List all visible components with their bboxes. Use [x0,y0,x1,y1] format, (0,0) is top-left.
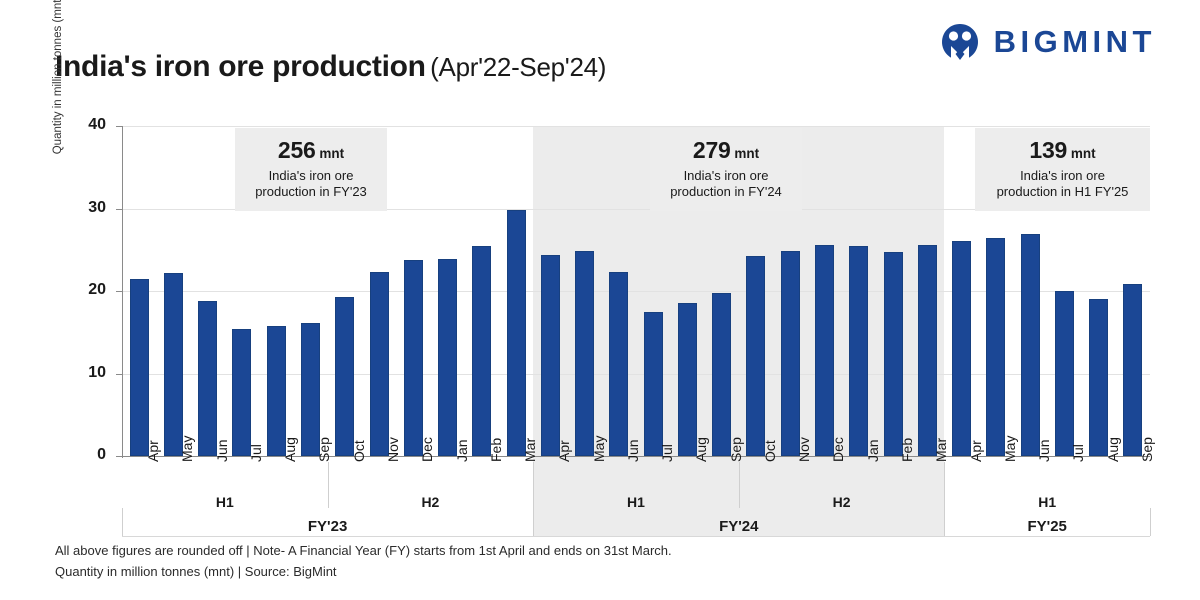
bar-dec-8[interactable] [404,260,423,456]
callout-unit: mnt [1067,146,1096,161]
y-axis-label: 40 [60,116,106,134]
x-axis-label-2: Jun [214,439,230,462]
callout-description: India's iron ore [235,168,387,184]
bar-jun-26[interactable] [1021,234,1040,456]
bar-oct-6[interactable] [335,297,354,456]
bar-oct-18[interactable] [746,256,765,456]
footer-line-1: All above figures are rounded off | Note… [55,540,672,561]
half-label-0: H1 [122,494,328,510]
x-axis-label-23: Mar [933,438,949,462]
fiscal-year-label-FY23: FY'23 [122,518,533,535]
label-row-divider [122,536,1150,537]
x-axis-label-25: May [1002,436,1018,462]
y-axis-label: 20 [60,281,106,299]
x-axis-label-24: Apr [968,440,984,462]
x-axis-label-10: Feb [488,438,504,462]
half-separator [739,462,740,508]
callout-FY23: 256 mntIndia's iron oreproduction in FY'… [235,128,387,211]
x-axis-label-29: Sep [1139,437,1155,462]
bar-nov-19[interactable] [781,251,800,456]
y-axis-label: 10 [60,364,106,382]
callout-value: 256 [278,137,316,163]
bar-dec-20[interactable] [815,245,834,456]
x-axis-label-1: May [179,436,195,462]
x-axis-label-14: Jun [625,439,641,462]
bar-sep-29[interactable] [1123,284,1142,456]
x-axis-label-7: Nov [385,437,401,462]
bar-sep-17[interactable] [712,293,731,456]
fiscal-year-label-FY24: FY'24 [533,518,944,535]
x-axis-label-20: Dec [830,437,846,462]
bar-jul-15[interactable] [644,312,663,456]
x-axis-label-9: Jan [454,439,470,462]
half-label-2: H1 [533,494,739,510]
x-axis-label-22: Feb [899,438,915,462]
bar-jul-27[interactable] [1055,291,1074,456]
fiscal-year-label-FY25: FY'25 [944,518,1150,535]
x-axis-label-8: Dec [419,437,435,462]
bar-aug-28[interactable] [1089,299,1108,456]
callout-unit: mnt [316,146,345,161]
x-axis-label-18: Oct [762,440,778,462]
y-axis-title: Quantity in million tonnes (mnt) [52,0,64,185]
half-separator [944,462,945,508]
bar-may-25[interactable] [986,238,1005,456]
fy-separator [533,508,534,536]
x-axis-label-15: Jul [659,444,675,462]
x-axis-label-16: Aug [693,437,709,462]
bar-mar-11[interactable] [507,210,526,456]
y-axis-line [122,126,123,458]
callout-unit: mnt [731,146,760,161]
bar-may-1[interactable] [164,273,183,456]
chart-container: Quantity in million tonnes (mnt) 0102030… [0,0,1200,600]
y-axis-label: 30 [60,199,106,217]
callout-description: production in H1 FY'25 [975,184,1150,200]
x-axis-label-0: Apr [145,440,161,462]
bar-feb-10[interactable] [472,246,491,456]
x-axis-label-19: Nov [796,437,812,462]
callout-description: production in FY'23 [235,184,387,200]
bar-mar-23[interactable] [918,245,937,456]
bar-aug-16[interactable] [678,303,697,456]
bar-jul-3[interactable] [232,329,251,456]
callout-value: 279 [693,137,731,163]
x-axis-label-21: Jan [865,439,881,462]
y-axis-label: 0 [60,446,106,464]
x-axis-label-4: Aug [282,437,298,462]
callout-description: India's iron ore [975,168,1150,184]
footer-note: All above figures are rounded off | Note… [55,540,672,582]
callout-FY24: 279 mntIndia's iron oreproduction in FY'… [650,128,802,211]
bar-feb-22[interactable] [884,252,903,456]
half-label-3: H2 [739,494,945,510]
bar-apr-12[interactable] [541,255,560,456]
fy-separator [944,508,945,536]
half-separator [328,462,329,508]
bar-apr-24[interactable] [952,241,971,456]
x-axis-label-5: Sep [316,437,332,462]
gridline [122,126,1150,127]
callout-FY25: 139 mntIndia's iron oreproduction in H1 … [975,128,1150,211]
bar-jun-14[interactable] [609,272,628,456]
bar-jan-9[interactable] [438,259,457,456]
x-axis-label-13: May [591,436,607,462]
half-label-1: H2 [328,494,534,510]
callout-description: production in FY'24 [650,184,802,200]
x-axis-label-26: Jun [1036,439,1052,462]
x-axis-label-3: Jul [248,444,264,462]
bar-jun-2[interactable] [198,301,217,456]
x-axis-label-27: Jul [1070,444,1086,462]
x-axis-label-28: Aug [1105,437,1121,462]
half-separator [533,462,534,508]
fy-separator [1150,508,1151,536]
x-axis-label-11: Mar [522,438,538,462]
x-axis-label-6: Oct [351,440,367,462]
bar-jan-21[interactable] [849,246,868,456]
fy-separator [122,508,123,536]
callout-description: India's iron ore [650,168,802,184]
bar-nov-7[interactable] [370,272,389,456]
callout-value: 139 [1029,137,1067,163]
footer-line-2: Quantity in million tonnes (mnt) | Sourc… [55,561,672,582]
bar-may-13[interactable] [575,251,594,456]
x-axis-label-12: Apr [556,440,572,462]
x-axis-label-17: Sep [728,437,744,462]
half-label-4: H1 [944,494,1150,510]
bar-apr-0[interactable] [130,279,149,456]
